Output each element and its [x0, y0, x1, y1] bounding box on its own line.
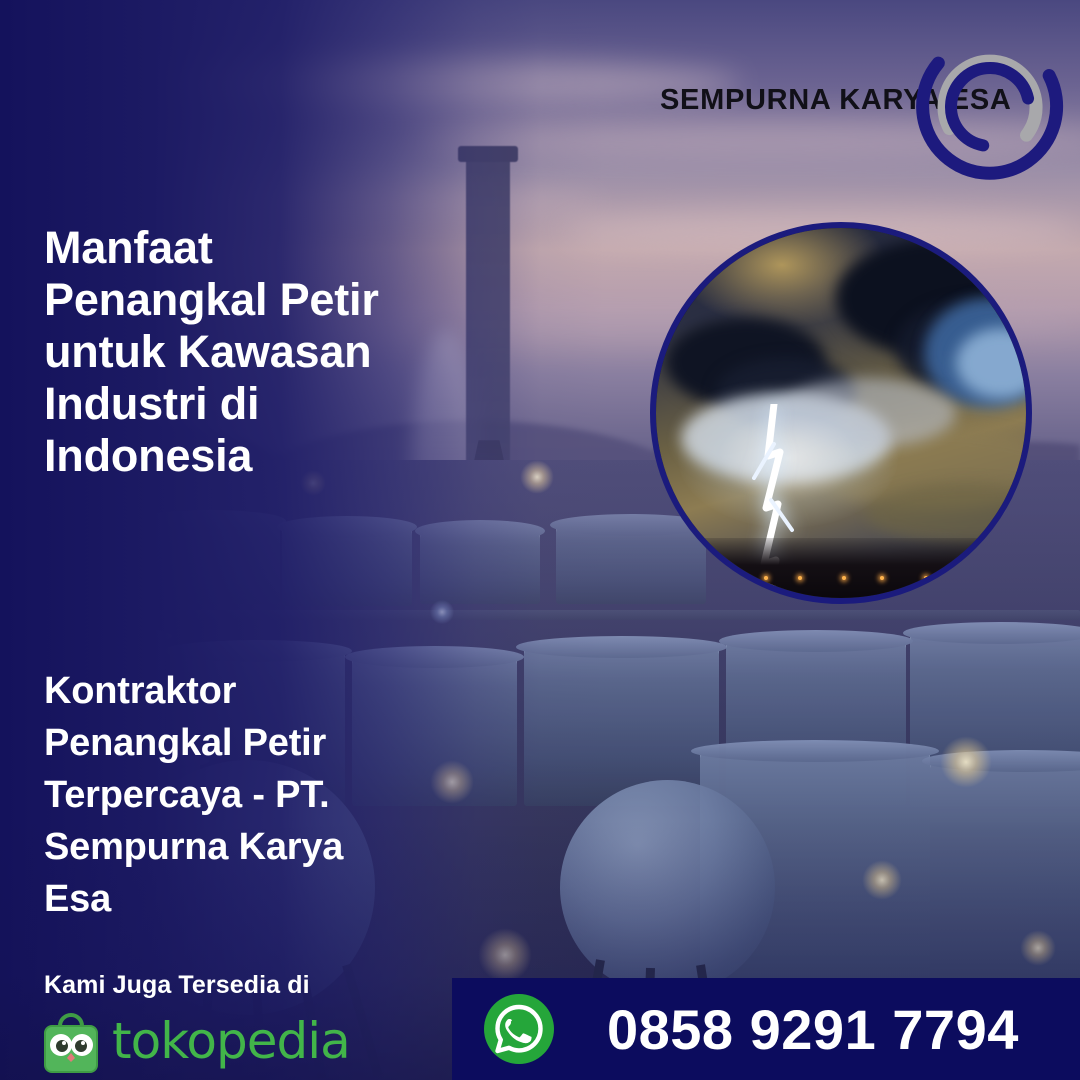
tokopedia-wordmark: tokopedia — [112, 1012, 350, 1070]
page-title: Manfaat Penangkal Petir untuk Kawasan In… — [44, 222, 384, 482]
city-light — [924, 576, 928, 580]
city-light — [726, 576, 730, 580]
city-light — [880, 576, 884, 580]
lightning-storm-photo — [650, 222, 1032, 604]
city-light — [764, 576, 768, 580]
promotional-poster: SEMPURNA KARYA ESA Manfaat Penangkal Pet… — [0, 0, 1080, 1080]
contact-bar[interactable]: 0858 9291 7794 — [452, 978, 1080, 1080]
city-light — [842, 576, 846, 580]
phone-number[interactable]: 0858 9291 7794 — [607, 992, 1019, 1066]
swoosh-circle-logo-icon — [905, 22, 1075, 192]
city-light — [798, 576, 802, 580]
city-light — [962, 576, 966, 580]
brand-logo: SEMPURNA KARYA ESA — [660, 60, 1060, 190]
subtitle: Kontraktor Penangkal Petir Terpercaya - … — [44, 665, 374, 925]
tokopedia-logo[interactable]: tokopedia — [40, 1006, 320, 1080]
whatsapp-icon[interactable] — [482, 992, 556, 1066]
marketplace-label: Kami Juga Tersedia di — [44, 971, 310, 1000]
tokopedia-owl-bag-icon — [40, 1012, 102, 1074]
city-horizon — [656, 538, 1026, 598]
